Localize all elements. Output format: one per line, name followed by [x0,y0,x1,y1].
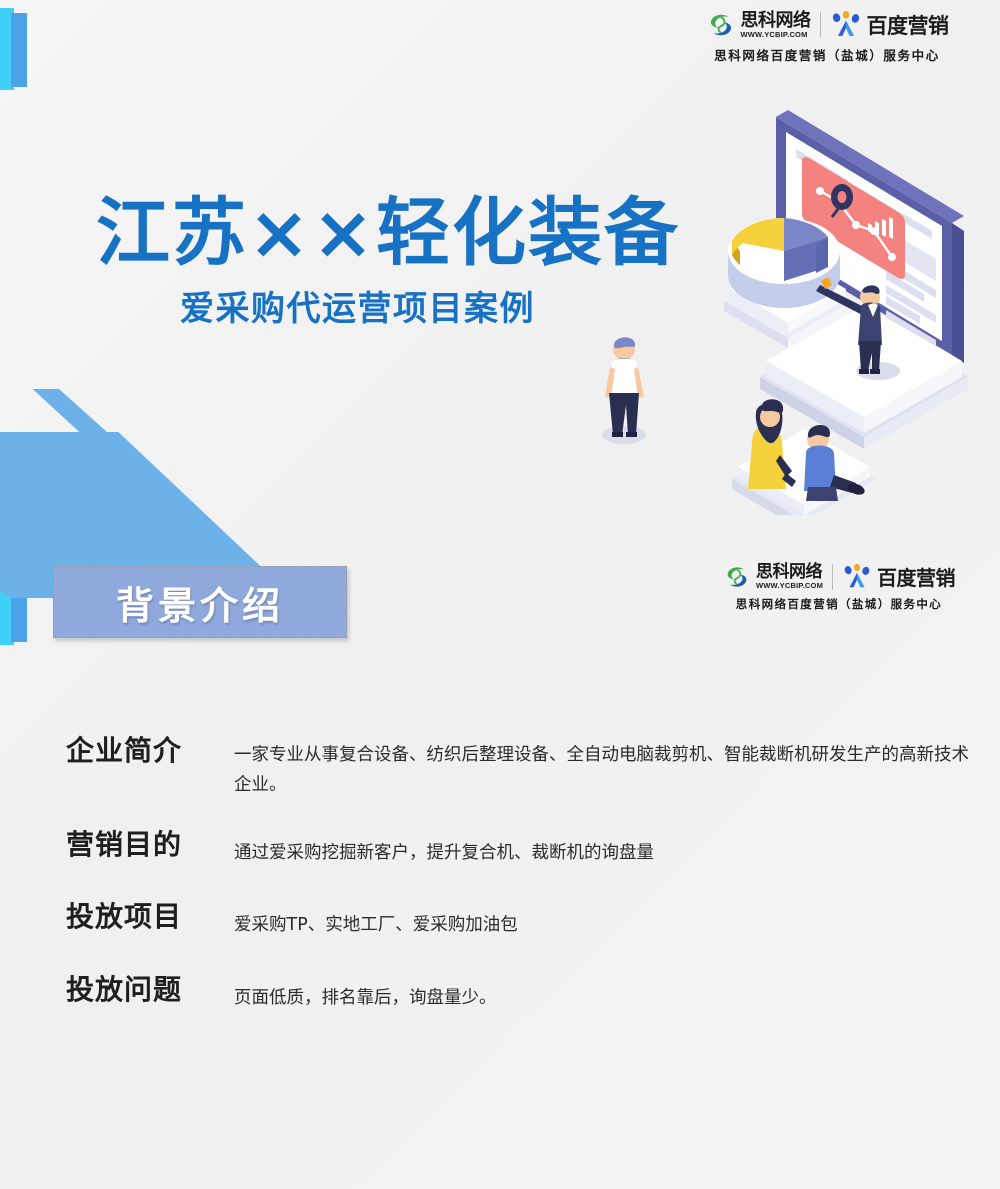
info-row: 企业简介 一家专业从事复合设备、纺织后整理设备、全自动电脑裁剪机、智能裁断机研发… [66,735,976,801]
watermark-logo-row: 思科网络 WWW.YCBIP.COM 百度营销 [684,562,994,591]
sike-swirl-icon [723,563,751,591]
info-row-text: 爱采购TP、实地工厂、爱采购加油包 [234,901,976,941]
logo-row: 思科网络 WWW.YCBIP.COM 百度营销 [662,10,992,40]
info-row: 营销目的 通过爱采购挖掘新客户，提升复合机、裁断机的询盘量 [66,829,976,869]
header-logo-lockup: 思科网络 WWW.YCBIP.COM 百度营销 思科网络百度营销（盐城）服务中心 [662,10,992,64]
logo-divider [832,564,833,590]
info-row-label: 投放问题 [66,974,234,1006]
watermark-logo-lockup: 思科网络 WWW.YCBIP.COM 百度营销 思科网络百度营销（盐城）服务中心 [684,562,994,612]
sike-url: WWW.YCBIP.COM [756,582,823,590]
sike-url: WWW.YCBIP.COM [741,31,811,39]
background-info-list: 企业简介 一家专业从事复合设备、纺织后整理设备、全自动电脑裁剪机、智能裁断机研发… [66,735,976,1050]
sike-swirl-icon [706,10,736,40]
baidu-logo: 百度营销 [830,10,949,40]
baidu-paw-icon [842,564,872,590]
poster-page: 思科网络 WWW.YCBIP.COM 百度营销 思科网络百度营销（盐城）服务中心… [0,0,1000,1189]
decor-diagonal-stripe [0,374,290,598]
logo-subtitle: 思科网络百度营销（盐城）服务中心 [662,45,992,64]
section-header-title: 背景介绍 [116,575,284,630]
sike-name: 思科网络 [756,564,823,581]
section-header-background: 背景介绍 [53,566,347,638]
page-subtitle: 爱采购代运营项目案例 [180,292,535,326]
hero-illustration [580,105,1000,515]
sike-logo: 思科网络 WWW.YCBIP.COM [706,10,811,40]
info-row-label: 企业简介 [66,735,234,767]
info-row-label: 营销目的 [66,829,234,861]
info-row-label: 投放项目 [66,901,234,933]
decor-diagonal-shape [0,378,290,598]
person-standing [602,337,646,444]
sike-name: 思科网络 [741,12,811,30]
baidu-paw-icon [830,11,862,39]
decor-diagonal-band [0,368,300,598]
decor-blue-bar-bottom [11,568,27,642]
baidu-name: 百度营销 [867,10,949,40]
sike-text-block: 思科网络 WWW.YCBIP.COM [741,12,811,39]
info-row: 投放问题 页面低质，排名靠后，询盘量少。 [66,974,976,1014]
watermark-subtitle: 思科网络百度营销（盐城）服务中心 [684,596,994,612]
logo-divider [820,12,821,38]
baidu-name: 百度营销 [877,562,955,591]
info-row-text: 一家专业从事复合设备、纺织后整理设备、全自动电脑裁剪机、智能裁断机研发生产的高新… [234,735,976,801]
watermark-sike-logo: 思科网络 WWW.YCBIP.COM [723,563,823,591]
watermark-sike-text: 思科网络 WWW.YCBIP.COM [756,564,823,590]
decor-blue-bar-top [11,13,27,87]
info-row: 投放项目 爱采购TP、实地工厂、爱采购加油包 [66,901,976,941]
info-row-text: 通过爱采购挖掘新客户，提升复合机、裁断机的询盘量 [234,829,976,869]
watermark-baidu-logo: 百度营销 [842,562,955,591]
info-row-text: 页面低质，排名靠后，询盘量少。 [234,974,976,1014]
